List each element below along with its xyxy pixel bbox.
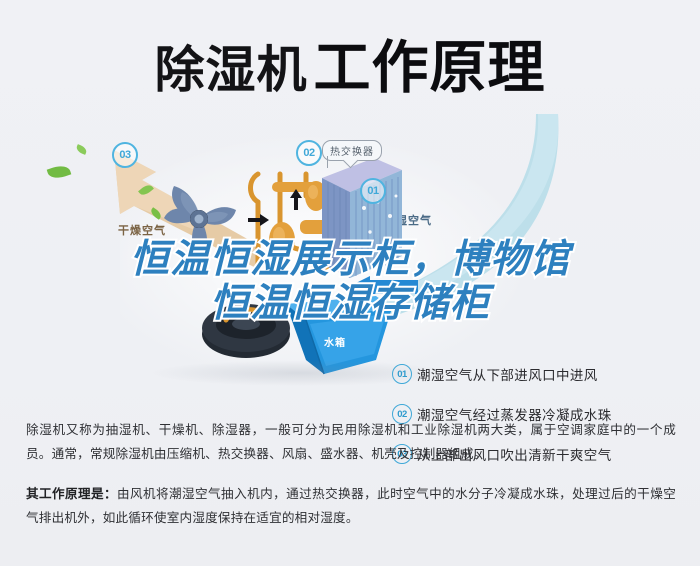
paragraph-2: 其工作原理是：由风机将潮湿空气抽入机内，通过热交换器，此时空气中的水分子冷凝成水… xyxy=(26,482,676,530)
page-title: 除湿机工作原理 xyxy=(0,22,700,104)
badge-step-1: 01 xyxy=(360,178,386,204)
fan-icon xyxy=(152,172,248,268)
badge-step-2: 02 xyxy=(296,140,322,166)
diagram-stage: 干燥空气 潮湿空气 xyxy=(0,118,700,398)
infographic-page: 除湿机工作原理 干燥空气 潮湿空气 xyxy=(0,0,700,566)
step-text: 潮湿空气从下部进风口中进风 xyxy=(417,364,598,384)
step-number: 01 xyxy=(392,364,412,384)
paragraph-1: 除湿机又称为抽湿机、干燥机、除湿器，一般可分为民用除湿机和工业除湿机两大类，属于… xyxy=(26,418,676,466)
badge-step-3: 03 xyxy=(112,142,138,168)
callout-stem-icon xyxy=(327,156,328,168)
paragraph-2-rest: 由风机将潮湿空气抽入机内，通过热交换器，此时空气中的水分子冷凝成水珠，处理过后的… xyxy=(26,487,676,525)
title-part-2: 工作原理 xyxy=(314,36,546,100)
article-body: 除湿机又称为抽湿机、干燥机、除湿器，一般可分为民用除湿机和工业除湿机两大类，属于… xyxy=(26,418,676,530)
title-part-1: 除湿机 xyxy=(155,42,308,98)
compressor-icon xyxy=(196,298,292,360)
water-tank-label: 水箱 xyxy=(324,334,346,349)
paragraph-2-lead: 其工作原理是： xyxy=(26,487,117,501)
step-item: 01 潮湿空气从下部进风口中进风 xyxy=(392,364,598,384)
heat-exchanger-callout: 热交换器 xyxy=(322,140,382,161)
